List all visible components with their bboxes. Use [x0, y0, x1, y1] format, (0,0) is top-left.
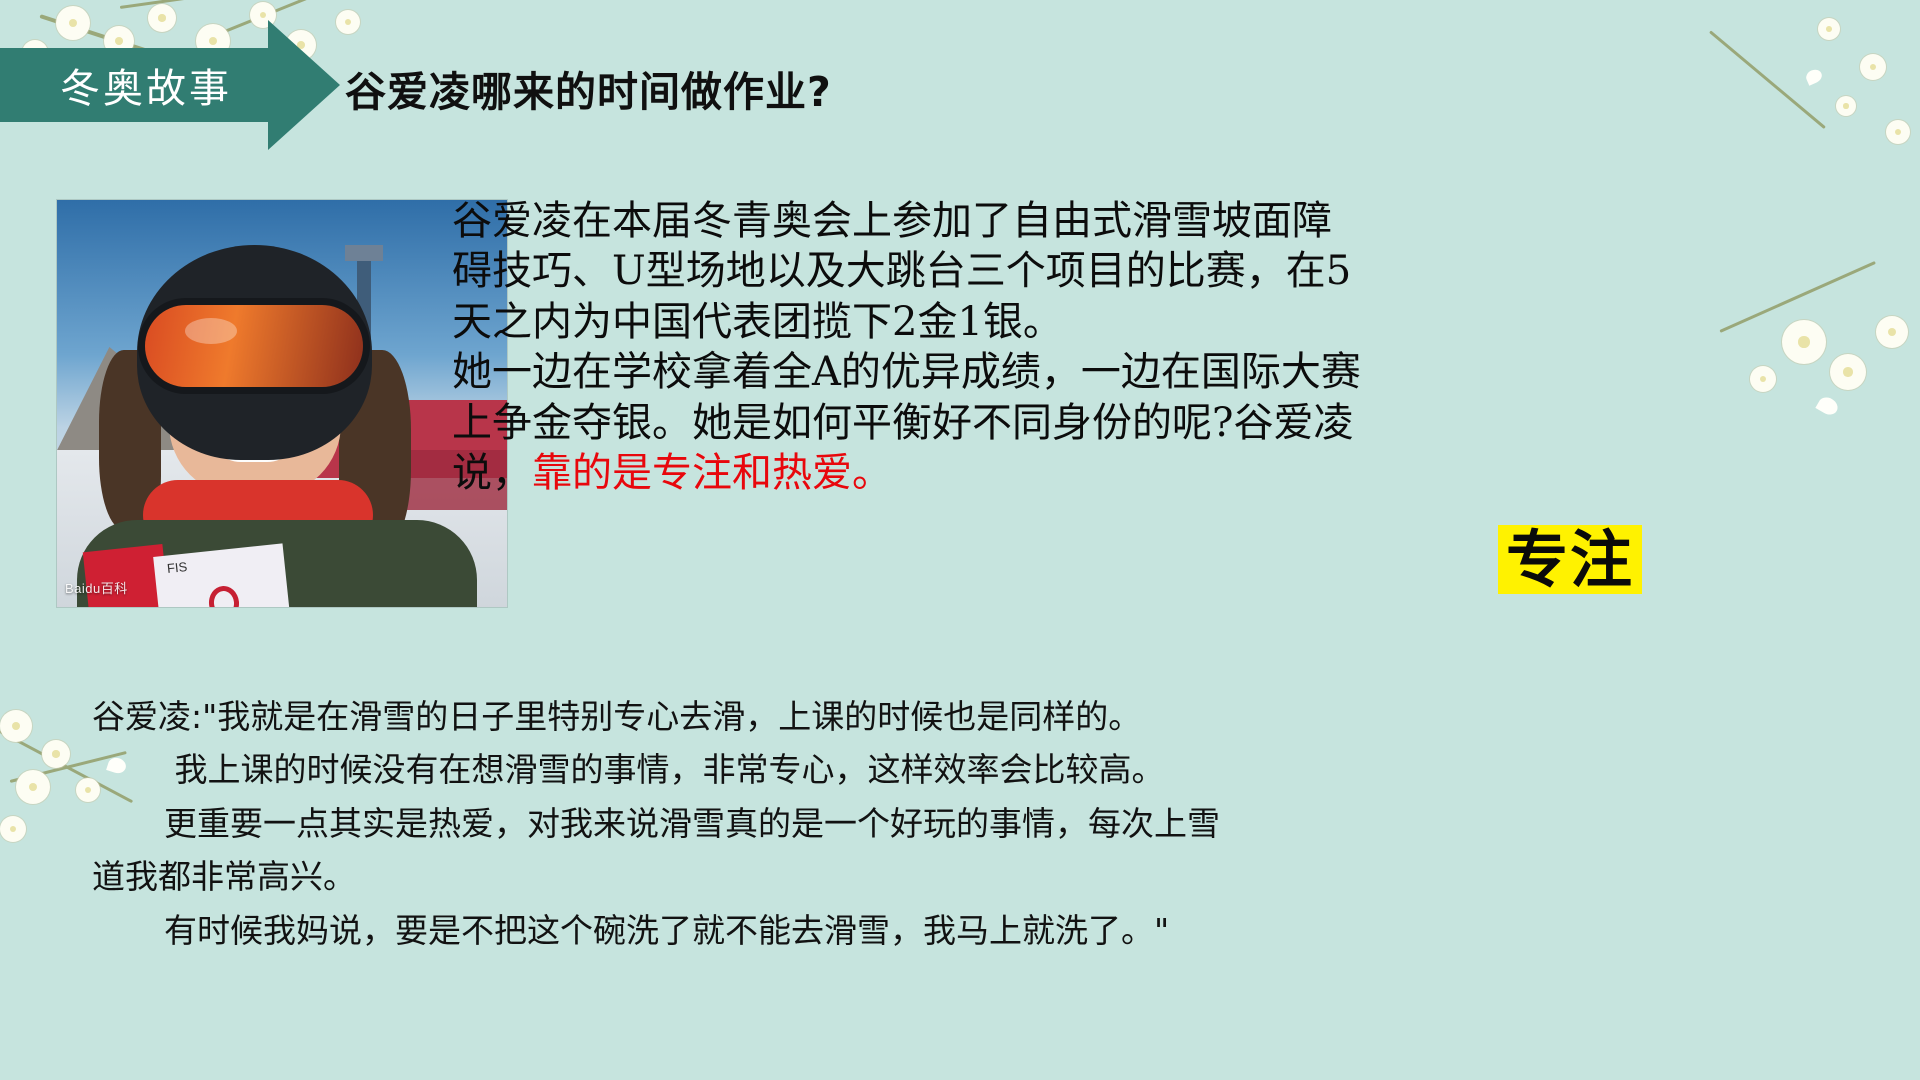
paragraph-line-5: 上争金夺银。她是如何平衡好不同身份的呢?谷爱凌	[452, 400, 1353, 446]
paragraph-line-1: 谷爱凌在本届冬青奥会上参加了自由式滑雪坡面障	[452, 198, 1332, 244]
paragraph-emphasis-red: 靠的是专注和热爱。	[532, 450, 892, 496]
paragraph-line-2: 碍技巧、U型场地以及大跳台三个项目的比赛，在5	[452, 248, 1351, 294]
quote-line-1: 谷爱凌:"我就是在滑雪的日子里特别专心去滑，上课的时候也是同样的。	[92, 690, 1832, 743]
photo-goggle-reflection	[185, 318, 237, 344]
paragraph-line-4: 她一边在学校拿着全A的优异成绩，一边在国际大赛	[452, 349, 1361, 395]
floral-decoration-middle-right	[1690, 270, 1920, 450]
quote-line-3: 更重要一点其实是热爱，对我来说滑雪真的是一个好玩的事情，每次上雪	[92, 797, 1832, 850]
photo-watermark: Baidu百科	[65, 578, 128, 597]
quote-text-1: "我就是在滑雪的日子里特别专心去滑，上课的时候也是同样的。	[202, 697, 1141, 736]
banner-label: 冬奥故事	[22, 50, 270, 120]
quote-speaker: 谷爱凌:	[92, 697, 202, 736]
paragraph-line-3: 天之内为中国代表团揽下2金1银。	[452, 299, 1063, 345]
banner-arrow-icon	[268, 20, 340, 150]
focus-keyword-highlight: 专注	[1498, 525, 1642, 594]
paragraph-line-6: 说，	[452, 450, 532, 496]
photo-goggles	[145, 305, 363, 387]
photo-bib-text: FIS	[166, 559, 188, 576]
quote-line-5: 有时候我妈说，要是不把这个碗洗了就不能去滑雪，我马上就洗了。"	[92, 904, 1832, 957]
quote-line-2: 我上课的时候没有在想滑雪的事情，非常专心，这样效率会比较高。	[92, 743, 1832, 796]
quote-line-4: 道我都非常高兴。	[92, 850, 1832, 903]
athlete-photo: FIS Baidu百科	[57, 200, 507, 607]
main-paragraph: 谷爱凌在本届冬青奥会上参加了自由式滑雪坡面障 碍技巧、U型场地以及大跳台三个项目…	[452, 196, 1512, 498]
floral-decoration-top-right	[1690, 0, 1920, 260]
page-title: 谷爱凌哪来的时间做作业?	[345, 58, 832, 118]
photo-lift-tower-top	[345, 245, 383, 261]
quote-block: 谷爱凌:"我就是在滑雪的日子里特别专心去滑，上课的时候也是同样的。 我上课的时候…	[92, 690, 1832, 957]
